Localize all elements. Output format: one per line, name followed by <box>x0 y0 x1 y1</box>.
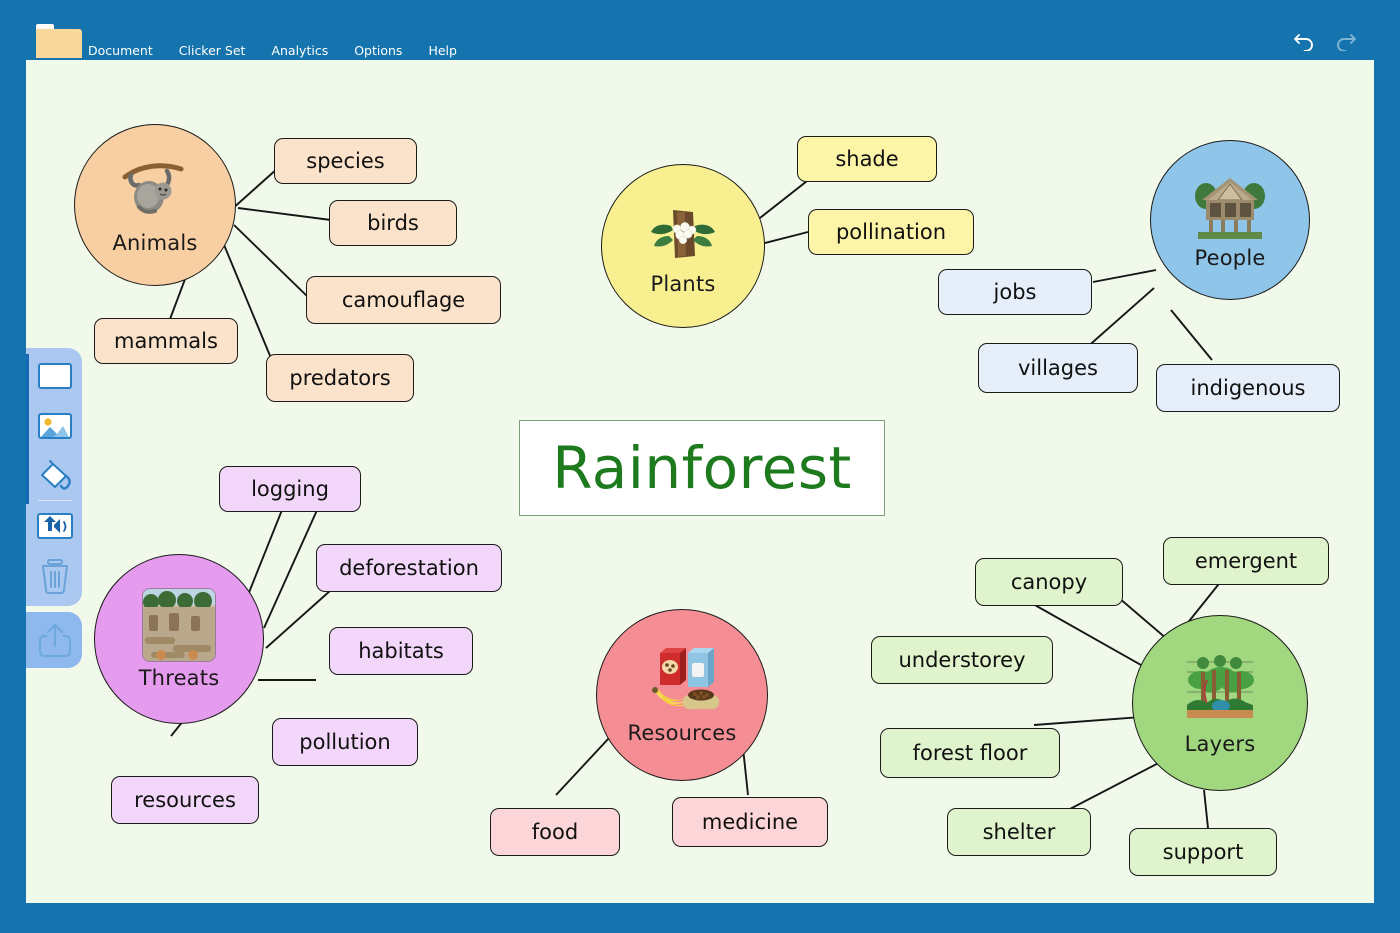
blank-shape-icon[interactable] <box>35 356 75 396</box>
chip-label: deforestation <box>339 558 479 579</box>
food-items-image <box>646 645 718 717</box>
chip-support[interactable]: support <box>1129 828 1277 876</box>
chip-pollination[interactable]: pollination <box>808 209 974 255</box>
mindmap-canvas[interactable]: Animals species birds camouflage mammals… <box>26 60 1374 903</box>
undo-redo-group <box>1292 26 1358 52</box>
folder-icon[interactable] <box>36 24 82 58</box>
chip-deforestation[interactable]: deforestation <box>316 544 502 592</box>
undo-icon[interactable] <box>1292 26 1318 52</box>
node-threats[interactable]: Threats <box>94 554 264 724</box>
chip-label: jobs <box>994 282 1037 303</box>
chip-canopy[interactable]: canopy <box>975 558 1123 606</box>
chip-understorey[interactable]: understorey <box>871 636 1053 684</box>
share-icon[interactable] <box>35 620 75 660</box>
chip-label: camouflage <box>342 290 465 311</box>
chip-label: logging <box>251 479 329 500</box>
chip-label: pollination <box>836 222 946 243</box>
chip-label: canopy <box>1011 572 1087 593</box>
chip-label: forest floor <box>913 743 1028 764</box>
node-label: People <box>1195 246 1266 270</box>
menu-bar: Document Clicker Set Analytics Options H… <box>0 0 1400 60</box>
chip-label: support <box>1163 842 1244 863</box>
chip-medicine[interactable]: medicine <box>672 797 828 847</box>
chip-villages[interactable]: villages <box>978 343 1138 393</box>
chip-label: villages <box>1018 358 1098 379</box>
picture-icon[interactable] <box>35 406 75 446</box>
chip-label: species <box>306 151 384 172</box>
chip-label: understorey <box>898 650 1025 671</box>
chip-label: shade <box>835 149 898 170</box>
menu-help[interactable]: Help <box>428 41 467 60</box>
chip-food[interactable]: food <box>490 808 620 856</box>
chip-label: shelter <box>983 822 1056 843</box>
menu-options[interactable]: Options <box>354 41 412 60</box>
chip-label: predators <box>289 368 390 389</box>
redo-icon[interactable] <box>1332 26 1358 52</box>
forest-layers-image <box>1181 650 1259 728</box>
node-label: Resources <box>627 721 736 745</box>
chip-indigenous[interactable]: indigenous <box>1156 364 1340 412</box>
node-label: Threats <box>139 666 220 690</box>
chip-habitats[interactable]: habitats <box>329 627 473 675</box>
menu-clicker-set[interactable]: Clicker Set <box>179 41 256 60</box>
chip-jobs[interactable]: jobs <box>938 269 1092 315</box>
chip-emergent[interactable]: emergent <box>1163 537 1329 585</box>
chip-birds[interactable]: birds <box>329 200 457 246</box>
chip-label: medicine <box>702 812 798 833</box>
chip-mammals[interactable]: mammals <box>94 318 238 364</box>
chip-label: food <box>532 822 578 843</box>
node-animals[interactable]: Animals <box>74 124 236 286</box>
chip-forest-floor[interactable]: forest floor <box>880 728 1060 778</box>
paint-bucket-icon[interactable] <box>35 456 75 496</box>
trash-icon[interactable] <box>35 556 75 596</box>
deforestation-image <box>142 588 216 662</box>
node-plants[interactable]: Plants <box>601 164 765 328</box>
left-toolbar <box>26 348 82 606</box>
chip-resources-threat[interactable]: resources <box>111 776 259 824</box>
node-layers[interactable]: Layers <box>1132 615 1308 791</box>
chip-label: habitats <box>358 641 444 662</box>
share-panel <box>26 612 82 668</box>
node-resources[interactable]: Resources <box>596 609 768 781</box>
node-people[interactable]: People <box>1150 140 1310 300</box>
tree-trunk-flowers-image <box>647 196 719 268</box>
application-window: Document Clicker Set Analytics Options H… <box>0 0 1400 933</box>
chip-species[interactable]: species <box>274 138 417 184</box>
menu-item-list: Document Clicker Set Analytics Options H… <box>88 41 483 60</box>
node-label: Layers <box>1185 732 1256 756</box>
chip-shelter[interactable]: shelter <box>947 808 1091 856</box>
chip-camouflage[interactable]: camouflage <box>306 276 501 324</box>
chip-pollution[interactable]: pollution <box>272 718 418 766</box>
chip-label: pollution <box>299 732 390 753</box>
stilt-house-image <box>1194 170 1266 242</box>
node-label: Animals <box>112 231 197 255</box>
toolbar-indicator <box>26 354 29 504</box>
center-title[interactable]: Rainforest <box>519 420 885 516</box>
chip-label: indigenous <box>1191 378 1306 399</box>
sound-icon[interactable] <box>35 506 75 546</box>
chip-shade[interactable]: shade <box>797 136 937 182</box>
chip-logging[interactable]: logging <box>219 466 361 512</box>
node-label: Plants <box>650 272 715 296</box>
chip-label: birds <box>367 213 419 234</box>
chip-predators[interactable]: predators <box>266 354 414 402</box>
title-text: Rainforest <box>552 434 852 502</box>
chip-label: resources <box>134 790 236 811</box>
chip-label: mammals <box>114 331 218 352</box>
menu-analytics[interactable]: Analytics <box>271 41 338 60</box>
sloth-image <box>119 155 191 227</box>
menu-document[interactable]: Document <box>88 41 163 60</box>
chip-label: emergent <box>1195 551 1297 572</box>
